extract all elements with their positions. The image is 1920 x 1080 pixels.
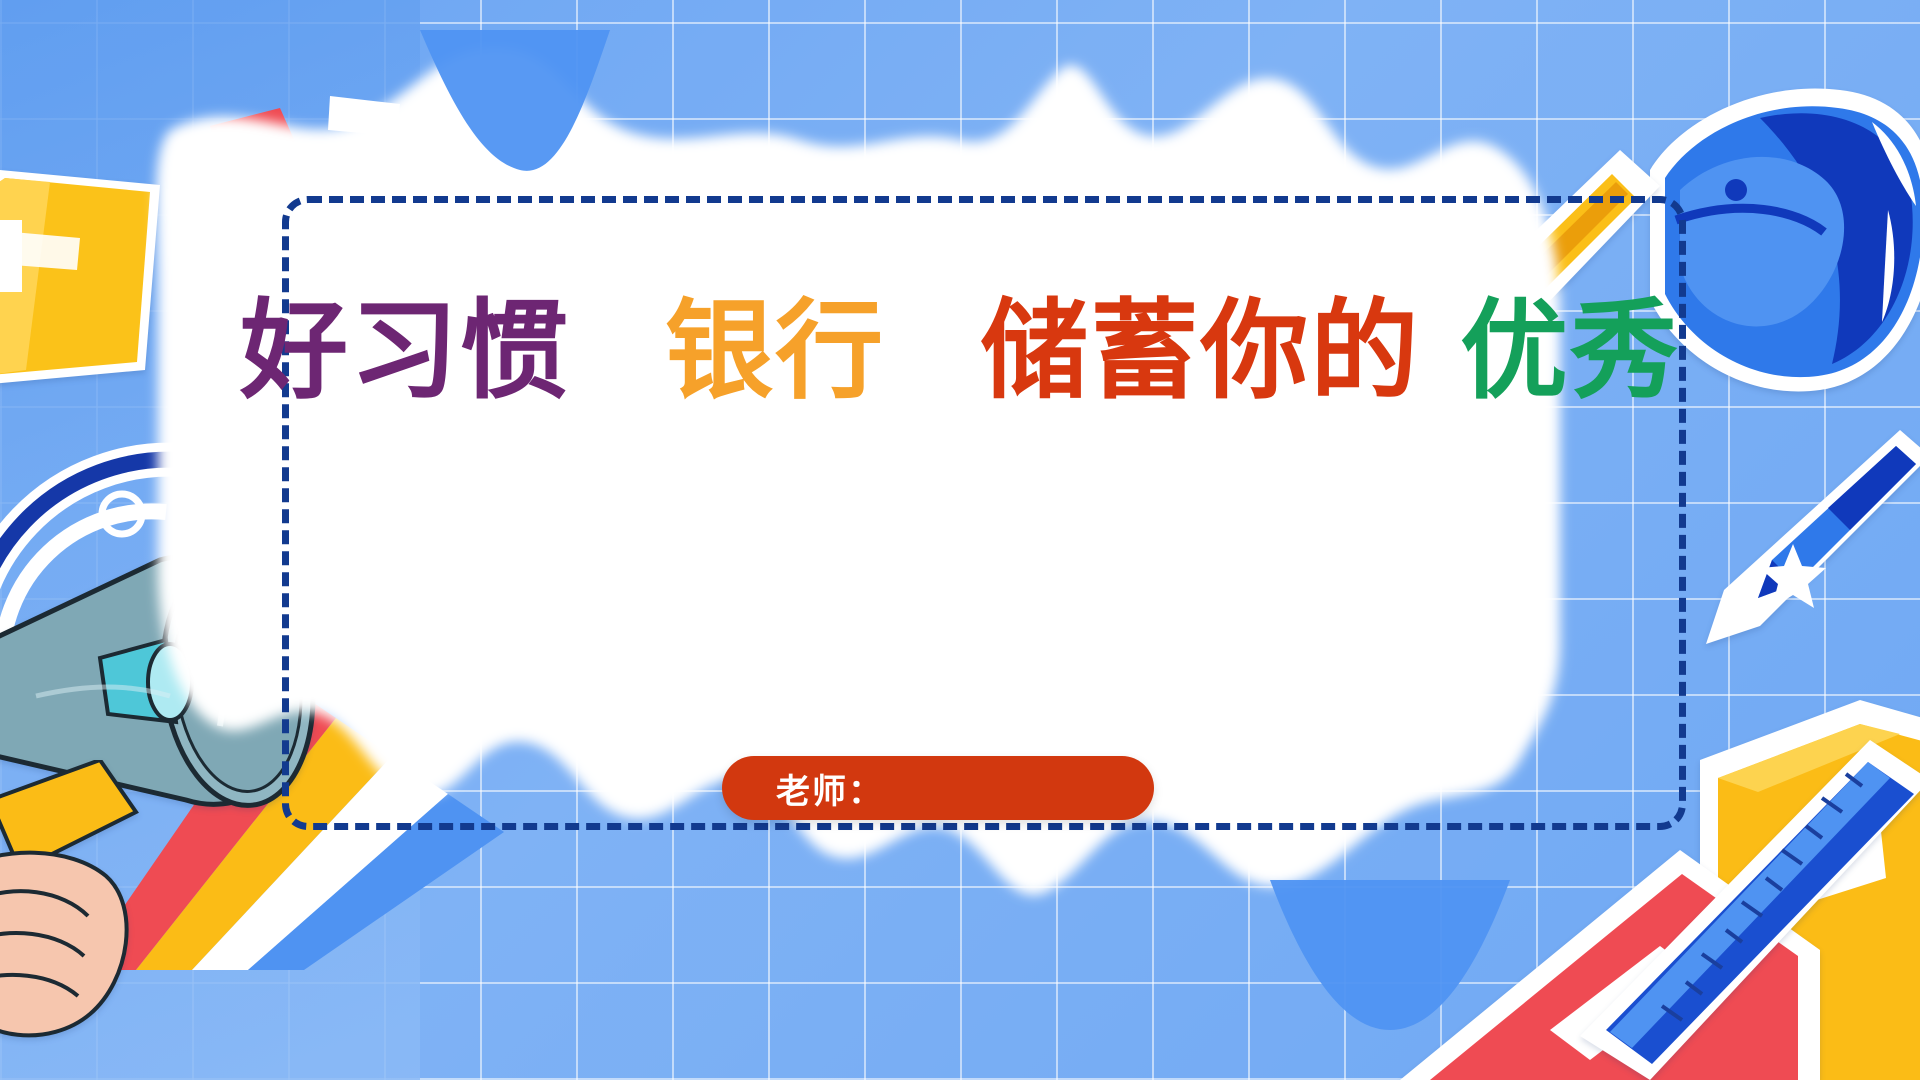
page-title: 好习惯 银行 储蓄你的 优秀 — [0, 292, 1920, 410]
title-seg-orange: 银行 — [665, 292, 885, 410]
title-seg-purple: 好习惯 — [240, 292, 570, 410]
blue-wave-accent-bottom — [1230, 880, 1560, 1060]
title-slide: 好习惯 银行 储蓄你的 优秀 老师： — [0, 0, 1920, 1080]
hand-icon — [0, 760, 210, 1080]
title-seg-red: 储蓄你的 — [980, 292, 1420, 410]
blue-wave-accent — [390, 30, 690, 210]
teacher-name-field[interactable]: 老师： — [722, 756, 1154, 820]
star-icon — [1758, 540, 1828, 610]
teacher-label: 老师： — [776, 764, 884, 813]
title-seg-green: 优秀 — [1460, 292, 1680, 410]
